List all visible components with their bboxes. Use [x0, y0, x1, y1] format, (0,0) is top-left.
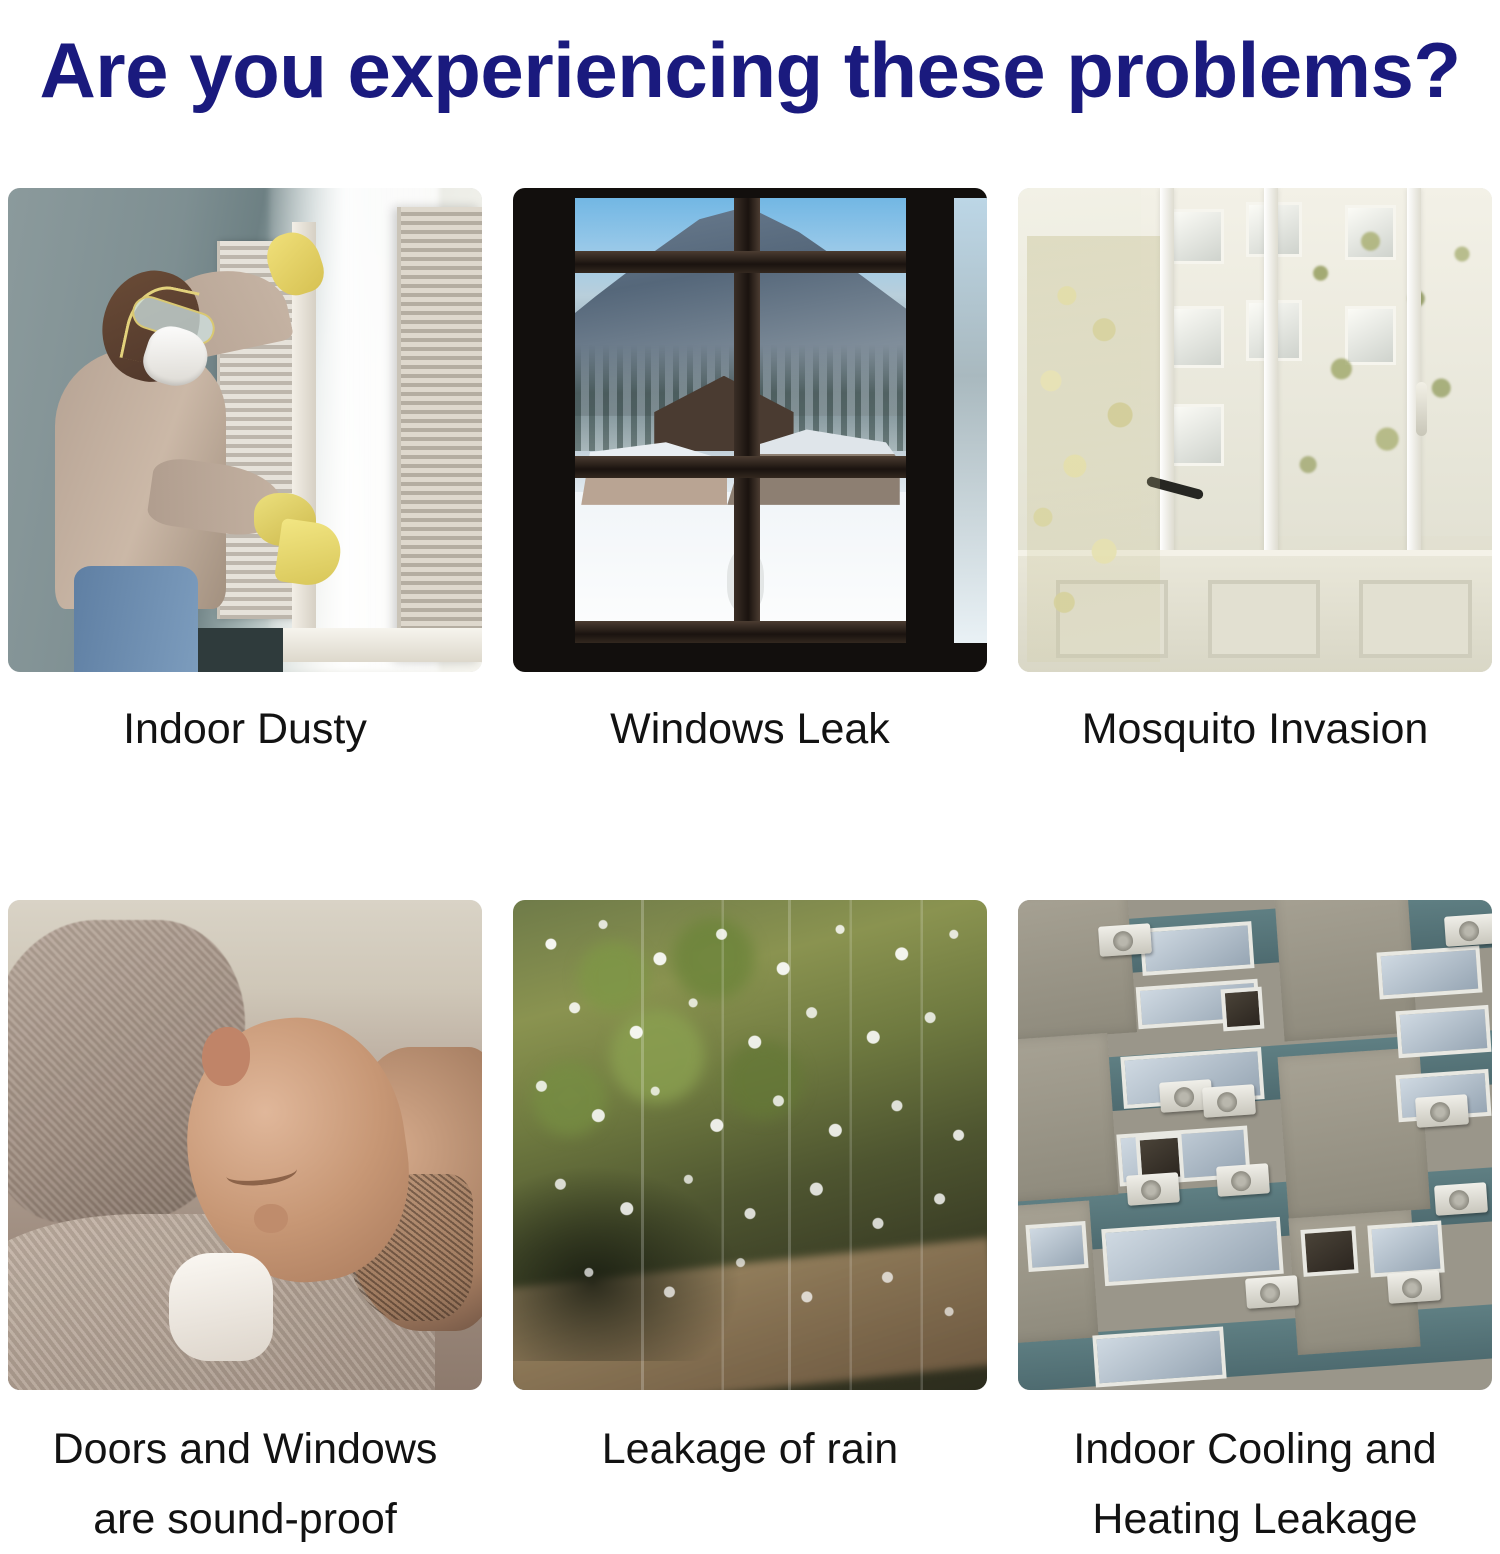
air-conditioner-unit — [1202, 1084, 1256, 1118]
caption-sound-proof: Doors and Windows are sound-proof — [8, 1390, 482, 1554]
air-conditioner-unit — [1387, 1271, 1441, 1305]
poster: Are you experiencing these problems? — [0, 0, 1500, 1500]
window-mullion-horizontal-bottom — [575, 621, 907, 643]
air-conditioner-unit — [1415, 1094, 1469, 1128]
grid-item-indoor-dusty[interactable]: Indoor Dusty — [8, 188, 482, 764]
photo-leakage-of-rain[interactable] — [513, 900, 987, 1390]
grid-item-sound-proof[interactable]: Doors and Windows are sound-proof — [8, 900, 482, 1554]
ivy-foliage — [1279, 203, 1488, 522]
facade-window — [1092, 1327, 1227, 1388]
water-droplets — [513, 900, 987, 1390]
facade-window — [1377, 945, 1483, 999]
side-pane — [954, 198, 987, 643]
caption-cooling-heating-leak: Indoor Cooling and Heating Leakage — [1018, 1390, 1492, 1554]
window-mullion-horizontal-middle — [575, 456, 907, 478]
air-conditioner-unit — [1098, 923, 1152, 957]
facade-window — [1396, 1005, 1492, 1059]
panel-inset — [1359, 580, 1471, 658]
window-mullion-horizontal-top — [575, 251, 907, 273]
photo-sound-proof[interactable] — [8, 900, 482, 1390]
grid-item-mosquito-invasion[interactable]: Mosquito Invasion — [1018, 188, 1492, 764]
window-view — [575, 198, 907, 643]
grid-item-leakage-of-rain[interactable]: Leakage of rain — [513, 900, 987, 1554]
air-conditioner-unit — [1434, 1182, 1488, 1216]
concrete-slab — [1018, 900, 1137, 1042]
window-handle[interactable] — [1416, 382, 1427, 436]
panel-inset — [1208, 580, 1320, 658]
page-title: Are you experiencing these problems? — [0, 22, 1500, 118]
caption-mosquito-invasion: Mosquito Invasion — [1018, 672, 1492, 764]
building-window — [1169, 209, 1224, 264]
window-mullion — [1407, 188, 1421, 566]
building-window — [1169, 306, 1224, 368]
facade-window-open — [1301, 1226, 1360, 1277]
grid-item-windows-leak[interactable]: Windows Leak — [513, 188, 987, 764]
photo-mosquito-invasion[interactable] — [1018, 188, 1492, 672]
caption-windows-leak: Windows Leak — [513, 672, 987, 764]
window-mullion — [1160, 188, 1174, 566]
concrete-slab — [1278, 1047, 1431, 1218]
baby-ear — [202, 1027, 249, 1086]
building-window — [1169, 404, 1224, 466]
satellite-dish — [1216, 1163, 1270, 1197]
facade-window-open — [1220, 987, 1264, 1032]
caption-leakage-of-rain: Leakage of rain — [513, 1390, 987, 1484]
branch-plant — [1027, 236, 1160, 662]
photo-windows-leak[interactable] — [513, 188, 987, 672]
photo-cooling-heating-leak[interactable] — [1018, 900, 1492, 1390]
baby-swaddle — [169, 1253, 273, 1361]
baby-nose — [254, 1204, 287, 1233]
shutter-right — [397, 207, 482, 662]
grid-row-1: Indoor Dusty — [8, 188, 1492, 764]
facade-window — [1367, 1221, 1445, 1278]
row-spacer — [8, 764, 1492, 900]
window-sill — [254, 628, 482, 662]
caption-indoor-dusty: Indoor Dusty — [8, 672, 482, 764]
person-jeans — [74, 566, 197, 672]
photo-indoor-dusty[interactable] — [8, 188, 482, 672]
problem-grid: Indoor Dusty — [8, 188, 1492, 1554]
air-conditioner-unit — [1444, 913, 1492, 947]
window-mullion — [1264, 188, 1278, 566]
concrete-slab — [1018, 1033, 1118, 1203]
air-conditioner-unit — [1126, 1173, 1180, 1207]
facade-window — [1140, 921, 1255, 976]
air-conditioner-unit — [1245, 1276, 1299, 1310]
facade-window — [1026, 1221, 1089, 1272]
grid-row-2: Doors and Windows are sound-proof Leakag… — [8, 900, 1492, 1554]
grid-item-cooling-heating-leak[interactable]: Indoor Cooling and Heating Leakage — [1018, 900, 1492, 1554]
